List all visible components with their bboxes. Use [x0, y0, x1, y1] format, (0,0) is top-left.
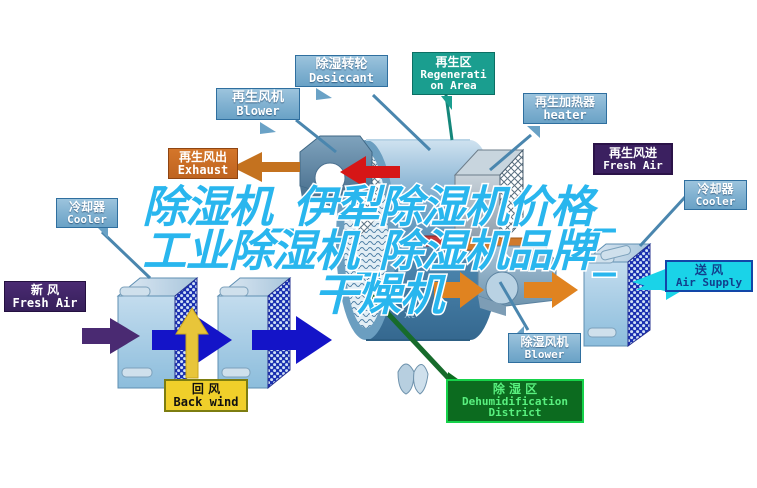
label-regeneration-heater-cn: 再生加热器: [528, 96, 602, 109]
watermark-line-1: 除湿机_伊犁除湿机价格_: [0, 186, 757, 230]
label-regeneration-blower-en: Blower: [221, 105, 295, 118]
exhaust-arrow: [232, 152, 300, 182]
label-regeneration-inlet-cn: 再生风进: [599, 147, 667, 160]
label-regeneration-exhaust[interactable]: 再生风出 Exhaust: [168, 148, 238, 179]
label-desiccant-rotor-en: Desiccant: [300, 72, 383, 85]
label-regeneration-area-cn: 再生区: [417, 56, 490, 69]
label-dehumidify-district[interactable]: 除 湿 区 Dehumidification District: [446, 379, 584, 423]
label-regeneration-exhaust-cn: 再生风出: [173, 151, 233, 164]
label-regeneration-blower[interactable]: 再生风机 Blower: [216, 88, 300, 120]
watermark-line-3: 干燥机: [0, 274, 757, 318]
watermark-line-2: 工业除湿机_除湿机品牌_: [0, 230, 757, 274]
label-dehumidify-district-en-line2: District: [452, 407, 578, 419]
callout-tail-desiccant: [316, 88, 332, 100]
label-dehumidify-blower-cn: 除湿风机: [513, 336, 576, 349]
label-dehumidify-district-cn: 除 湿 区: [452, 383, 578, 396]
label-regeneration-exhaust-en: Exhaust: [173, 164, 233, 177]
label-regeneration-inlet[interactable]: 再生风进 Fresh Air: [593, 143, 673, 175]
label-regeneration-area[interactable]: 再生区 Regenerati on Area: [412, 52, 495, 95]
label-regeneration-inlet-en: Fresh Air: [599, 160, 667, 172]
label-dehumidify-blower-en: Blower: [513, 349, 576, 361]
label-desiccant-rotor[interactable]: 除湿转轮 Desiccant: [295, 55, 388, 87]
label-regeneration-area-en-line2: on Area: [417, 80, 490, 92]
callout-tail-regen-blower: [260, 122, 276, 134]
label-back-wind[interactable]: 回 风 Back wind: [164, 379, 248, 412]
label-back-wind-cn: 回 风: [170, 383, 242, 396]
label-dehumidify-blower[interactable]: 除湿风机 Blower: [508, 333, 581, 363]
label-back-wind-en: Back wind: [170, 396, 242, 409]
label-desiccant-rotor-cn: 除湿转轮: [300, 58, 383, 72]
rotor-segment-piece: [398, 364, 428, 394]
label-regeneration-blower-cn: 再生风机: [221, 91, 295, 105]
label-regeneration-heater-en: heater: [528, 109, 602, 122]
diagram-canvas: xt: [0, 0, 757, 488]
watermark-overlay: 除湿机_伊犁除湿机价格_ 工业除湿机_除湿机品牌_ 干燥机: [0, 186, 757, 318]
label-regeneration-heater[interactable]: 再生加热器 heater: [523, 93, 607, 124]
